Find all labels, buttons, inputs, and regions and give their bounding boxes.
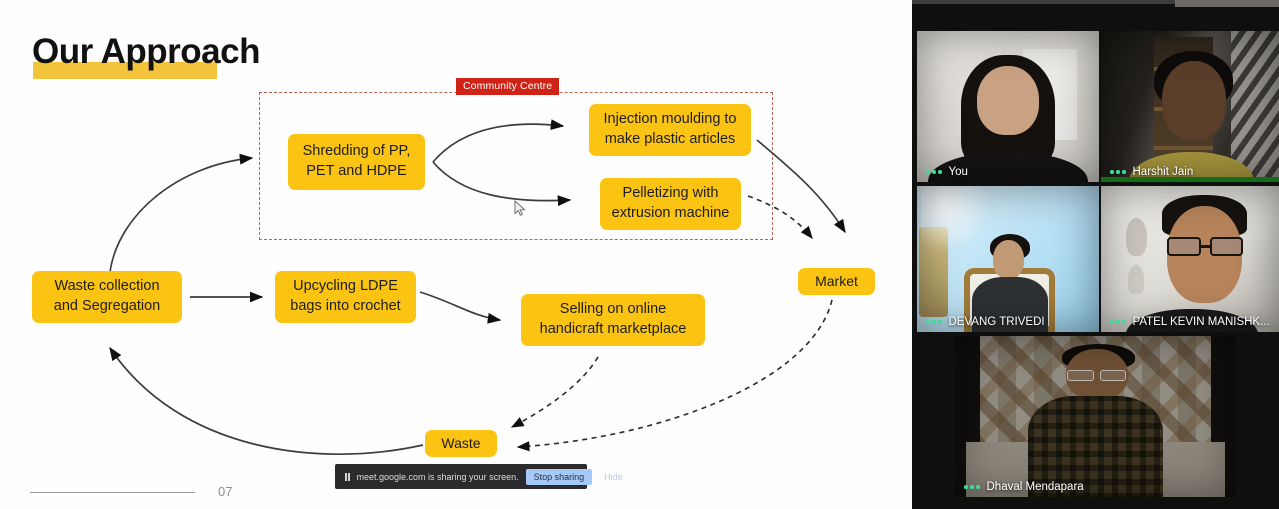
mic-indicator-icon (926, 170, 942, 174)
video-feed (955, 336, 1236, 497)
participant-name: Dhaval Mendapara (987, 481, 1084, 493)
video-tile-patel-kevin[interactable]: PATEL KEVIN MANISHK... (1101, 186, 1279, 332)
sharing-message: meet.google.com is sharing your screen. (357, 472, 519, 482)
mic-indicator-icon (1110, 320, 1126, 324)
participant-name-row: PATEL KEVIN MANISHK... (1101, 316, 1279, 328)
video-feed (1101, 31, 1279, 182)
video-tile-devang-trivedi[interactable]: DEVANG TRIVEDI (917, 186, 1099, 332)
page-number: 07 (218, 484, 232, 499)
video-feed (917, 186, 1099, 332)
hide-button[interactable]: Hide (599, 469, 628, 485)
shared-slide: Our Approach Community Centre (0, 0, 912, 509)
footer-rule (30, 492, 195, 493)
mic-indicator-icon (964, 485, 980, 489)
participants-panel: You Harshit Jain (912, 0, 1279, 509)
participant-name: You (949, 166, 968, 178)
participant-name-row: You (917, 166, 977, 178)
node-selling-online[interactable]: Selling on online handicraft marketplace (521, 294, 705, 346)
video-feed (917, 31, 1099, 182)
panel-top-strip-right (1175, 0, 1279, 7)
stop-sharing-button[interactable]: Stop sharing (526, 469, 593, 485)
active-speaker-border (1101, 177, 1279, 182)
node-upcycling[interactable]: Upcycling LDPE bags into crochet (275, 271, 416, 323)
community-centre-label: Community Centre (456, 78, 559, 95)
mic-indicator-icon (926, 320, 942, 324)
node-waste-collection[interactable]: Waste collection and Segregation (32, 271, 182, 323)
video-feed (1101, 186, 1279, 332)
participant-name: DEVANG TRIVEDI (949, 316, 1045, 328)
video-tile-you[interactable]: You (917, 31, 1099, 182)
mouse-pointer-icon (514, 200, 528, 218)
screen-root: Our Approach Community Centre (0, 0, 1279, 509)
video-tile-dhaval-mendapara[interactable]: Dhaval Mendapara (955, 336, 1236, 497)
mic-indicator-icon (1110, 170, 1126, 174)
participant-name-row: Dhaval Mendapara (955, 481, 1093, 493)
screen-sharing-bar: meet.google.com is sharing your screen. … (335, 464, 587, 489)
participant-name-row: DEVANG TRIVEDI (917, 316, 1054, 328)
node-waste[interactable]: Waste (425, 430, 497, 457)
node-pelletizing[interactable]: Pelletizing with extrusion machine (600, 178, 741, 230)
node-shredding[interactable]: Shredding of PP, PET and HDPE (288, 134, 425, 190)
video-tile-harshit-jain[interactable]: Harshit Jain (1101, 31, 1279, 182)
node-market[interactable]: Market (798, 268, 875, 295)
pause-icon[interactable] (345, 473, 350, 481)
page-title: Our Approach (32, 32, 260, 72)
node-injection-moulding[interactable]: Injection moulding to make plastic artic… (589, 104, 751, 156)
participant-name: PATEL KEVIN MANISHK... (1133, 316, 1270, 328)
